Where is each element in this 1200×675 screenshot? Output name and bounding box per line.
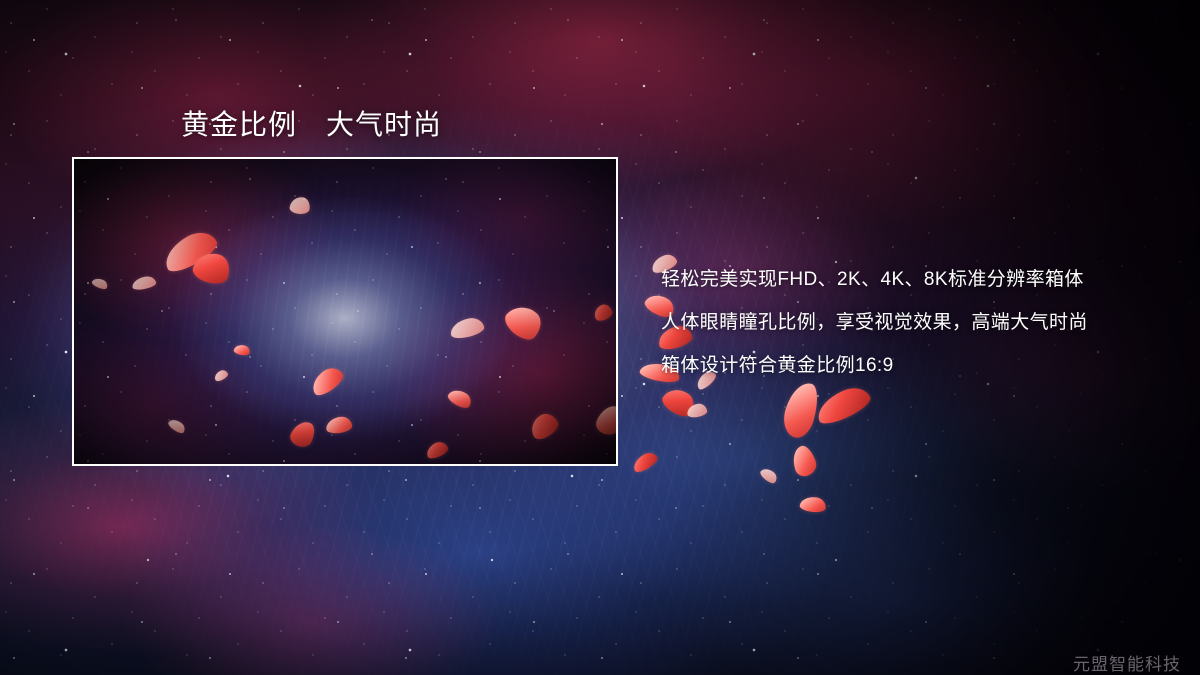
watermark-brand: 元盟智能科技 xyxy=(1073,650,1181,675)
petal-icon xyxy=(799,495,827,513)
description-line: 轻松完美实现FHD、2K、4K、8K标准分辨率箱体 xyxy=(661,258,1161,301)
description-line: 人体眼睛瞳孔比例，享受视觉效果，高端大气时尚 xyxy=(661,301,1161,344)
petal-icon xyxy=(759,466,780,486)
description-line: 箱体设计符合黄金比例16:9 xyxy=(661,344,1161,387)
framed-vignette xyxy=(74,159,616,464)
petal-icon xyxy=(789,443,819,478)
feature-description-block: 轻松完美实现FHD、2K、4K、8K标准分辨率箱体 人体眼睛瞳孔比例，享受视觉效… xyxy=(661,258,1161,387)
slide-canvas: 黄金比例 大气时尚 轻松完美实现FHD、2K、4K、8K标准分辨率箱体 人体眼睛… xyxy=(0,0,1200,675)
page-title: 黄金比例 大气时尚 xyxy=(181,103,442,143)
petal-icon xyxy=(812,382,874,429)
petal-icon xyxy=(630,449,660,474)
framed-image-panel xyxy=(72,157,618,466)
framed-image-content xyxy=(74,159,616,464)
petal-icon xyxy=(779,379,823,441)
